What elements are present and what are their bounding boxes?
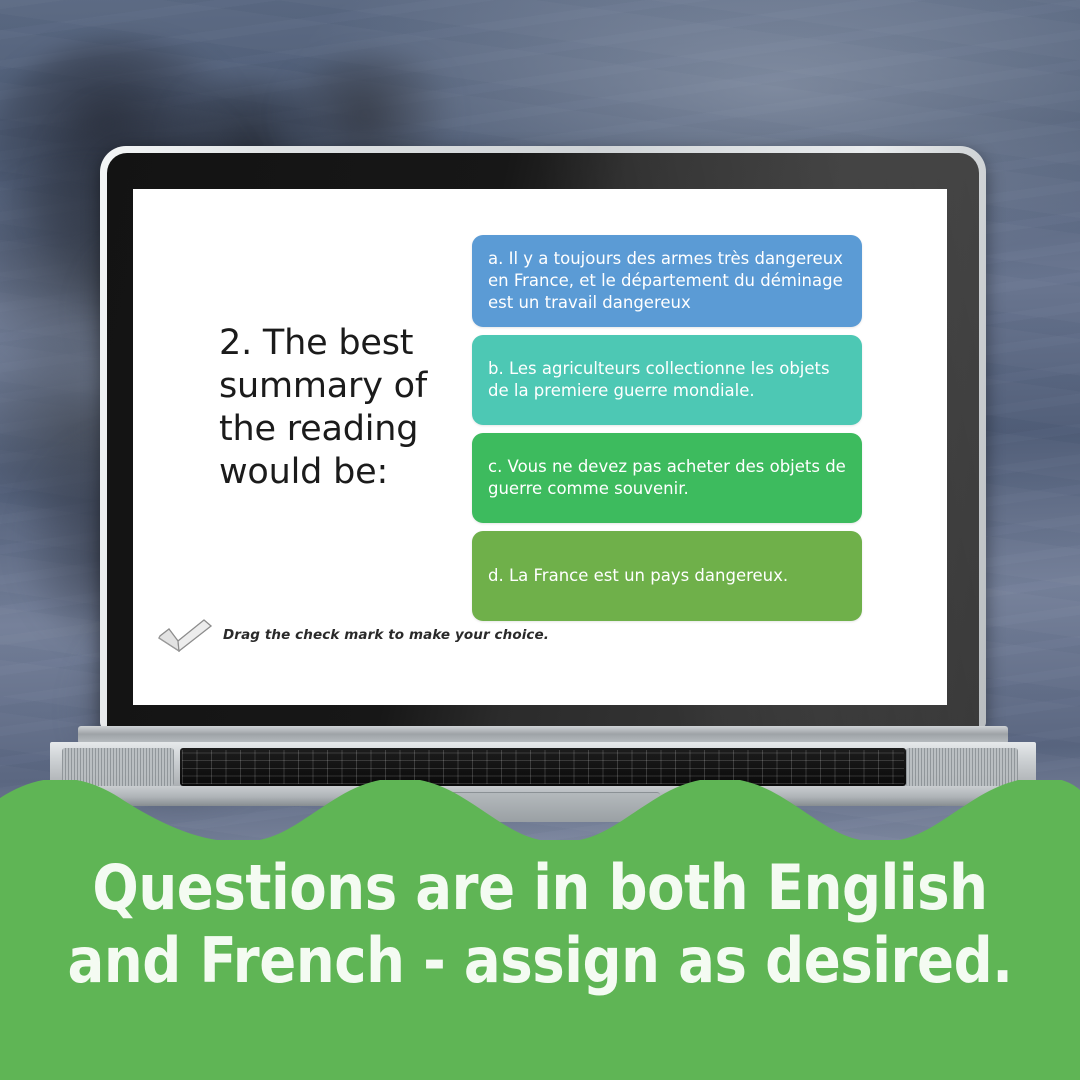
laptop-display: 2. The best summary of the reading would… (133, 189, 947, 705)
answer-option-a[interactable]: a. Il y a toujours des armes très danger… (472, 235, 862, 327)
answer-option-b-label: b. Les agriculteurs collectionne les obj… (488, 358, 846, 402)
question-text: 2. The best summary of the reading would… (219, 322, 434, 494)
answer-option-c-label: c. Vous ne devez pas acheter des objets … (488, 456, 846, 500)
answer-option-b[interactable]: b. Les agriculteurs collectionne les obj… (472, 335, 862, 425)
banner-caption-line-1: Questions are in both English (65, 852, 1015, 925)
keyboard-keys (182, 750, 904, 784)
caption-banner: Questions are in both English and French… (0, 780, 1080, 1080)
answer-option-c[interactable]: c. Vous ne devez pas acheter des objets … (472, 433, 862, 523)
check-mark-icon[interactable] (156, 616, 214, 654)
answer-option-d[interactable]: d. La France est un pays dangereux. (472, 531, 862, 621)
banner-caption-line-2: and French - assign as desired. (65, 925, 1015, 998)
answer-options-list: a. Il y a toujours des armes très danger… (472, 235, 862, 629)
screenshot-stage: 2. The best summary of the reading would… (0, 0, 1080, 1080)
banner-caption: Questions are in both English and French… (65, 852, 1015, 997)
drag-hint: Drag the check mark to make your choice. (156, 616, 549, 654)
answer-option-a-label: a. Il y a toujours des armes très danger… (488, 248, 846, 314)
drag-hint-text: Drag the check mark to make your choice. (223, 627, 549, 643)
answer-option-d-label: d. La France est un pays dangereux. (488, 565, 788, 587)
